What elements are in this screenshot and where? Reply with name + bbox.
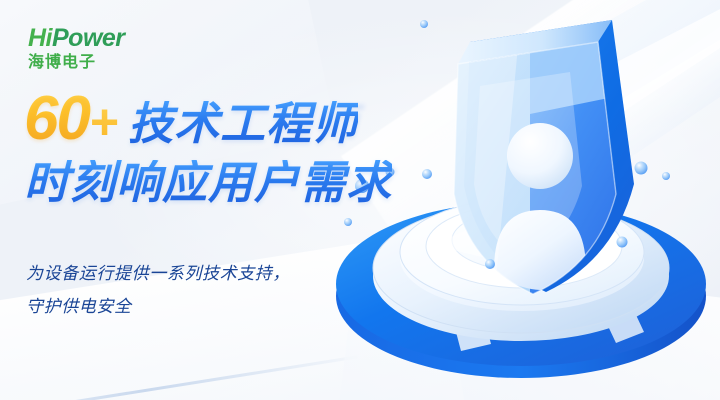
headline-text-line-2: 时刻响应用户需求 [24, 160, 392, 205]
hero-illustration [336, 0, 720, 396]
headline-plus-sign: + [89, 97, 118, 147]
headline-line-2: 时刻响应用户需求 [24, 160, 392, 205]
logo-chinese-name: 海博电子 [28, 54, 148, 70]
logo-wordmark-power: Power [52, 24, 125, 52]
headline-number: 60 [24, 88, 91, 150]
headline-text-line-1: 技术工程师 [128, 101, 358, 146]
subtitle-line-2: 守护供电安全 [26, 291, 290, 324]
brand-logo: HiPower 海博电子 [28, 26, 148, 70]
logo-wordmark: HiPower [28, 26, 148, 51]
subtitle-line-1: 为设备运行提供一系列技术支持， [26, 258, 290, 291]
promo-banner: HiPower 海博电子 60 + 技术工程师 时刻响应用户需求 为设备运行提供… [0, 0, 720, 400]
headline-line-1: 60 + 技术工程师 [24, 88, 392, 150]
subtitle: 为设备运行提供一系列技术支持， 守护供电安全 [26, 258, 290, 324]
headline: 60 + 技术工程师 时刻响应用户需求 [24, 88, 392, 205]
logo-wordmark-hi: Hi [28, 24, 52, 52]
